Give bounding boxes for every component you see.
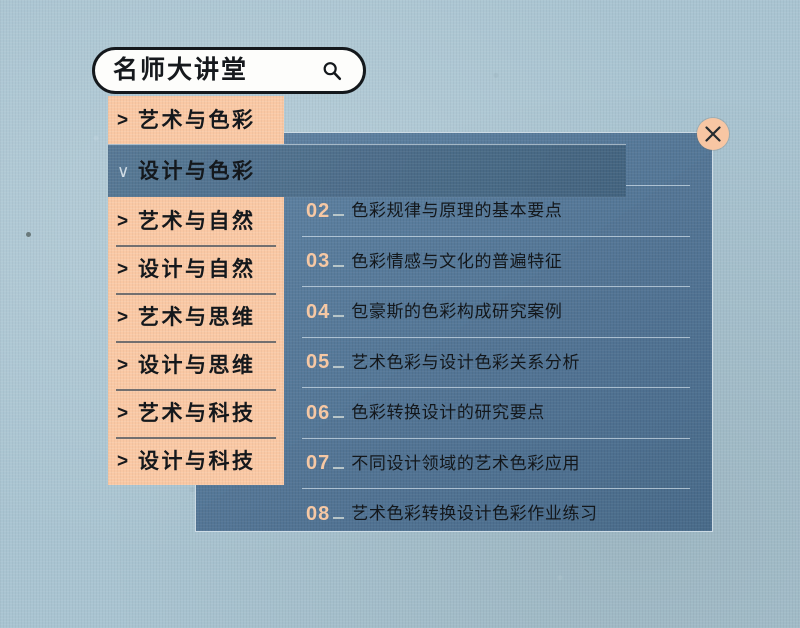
sidebar-item-label: 设计与思维 <box>138 355 256 376</box>
lesson-number: 06 <box>306 403 330 423</box>
chevron-right-icon: > <box>117 111 130 130</box>
lesson-row[interactable]: 08艺术色彩转换设计色彩作业练习 <box>302 489 690 539</box>
sidebar-item-label: 艺术与科技 <box>138 403 256 424</box>
lesson-number: 08 <box>306 504 330 524</box>
lesson-number: 07 <box>306 453 330 473</box>
sidebar-item-7[interactable]: >艺术与科技 <box>108 389 284 437</box>
lesson-dash <box>333 416 344 418</box>
lesson-title: 包豪斯的色彩构成研究案例 <box>351 303 562 320</box>
lesson-title: 色彩规律与原理的基本要点 <box>351 202 562 219</box>
lesson-dash <box>333 467 344 469</box>
close-icon <box>703 124 723 144</box>
sidebar-item-label: 设计与自然 <box>138 259 256 280</box>
category-sidebar: >艺术与色彩∨设计与色彩>艺术与自然>设计与自然>艺术与思维>设计与思维>艺术与… <box>108 96 284 485</box>
paper-speck <box>26 232 31 237</box>
lesson-row[interactable]: 04包豪斯的色彩构成研究案例 <box>302 287 690 338</box>
sidebar-item-label: 艺术与色彩 <box>138 110 256 131</box>
chevron-right-icon: > <box>117 260 130 279</box>
chevron-right-icon: > <box>117 308 130 327</box>
sidebar-item-label: 设计与科技 <box>138 451 256 472</box>
lesson-title: 色彩情感与文化的普遍特征 <box>351 253 562 270</box>
lesson-title: 不同设计领域的艺术色彩应用 <box>351 455 580 472</box>
sidebar-item-3[interactable]: >艺术与自然 <box>108 197 284 245</box>
sidebar-item-4[interactable]: >设计与自然 <box>108 245 284 293</box>
chevron-right-icon: > <box>117 212 130 231</box>
sidebar-separator <box>116 437 276 439</box>
lesson-number: 03 <box>306 251 330 271</box>
sidebar-item-1[interactable]: >艺术与色彩 <box>108 96 284 144</box>
sidebar-item-label: 艺术与思维 <box>138 307 256 328</box>
search-input[interactable]: 名师大讲堂 <box>113 58 248 83</box>
chevron-right-icon: > <box>117 356 130 375</box>
search-icon[interactable] <box>321 60 343 82</box>
lesson-dash <box>333 366 344 368</box>
lesson-dash <box>333 315 344 317</box>
lesson-number: 05 <box>306 352 330 372</box>
sidebar-item-label: 设计与色彩 <box>138 161 256 182</box>
lesson-row[interactable]: 03色彩情感与文化的普遍特征 <box>302 237 690 288</box>
sidebar-item-6[interactable]: >设计与思维 <box>108 341 284 389</box>
sidebar-separator <box>116 293 276 295</box>
lesson-title: 色彩转换设计的研究要点 <box>351 404 545 421</box>
lesson-dash <box>333 265 344 267</box>
lesson-row[interactable]: 05艺术色彩与设计色彩关系分析 <box>302 338 690 389</box>
lesson-row[interactable]: 06色彩转换设计的研究要点 <box>302 388 690 439</box>
sidebar-item-5[interactable]: >艺术与思维 <box>108 293 284 341</box>
chevron-right-icon: > <box>117 404 130 423</box>
lesson-number: 02 <box>306 201 330 221</box>
page-background: 01“设计与色彩”课程综述02色彩规律与原理的基本要点03色彩情感与文化的普遍特… <box>0 0 800 628</box>
sidebar-item-label: 艺术与自然 <box>138 211 256 232</box>
sidebar-separator <box>116 245 276 247</box>
sidebar-item-8[interactable]: >设计与科技 <box>108 437 284 485</box>
sidebar-separator <box>116 389 276 391</box>
lesson-number: 04 <box>306 302 330 322</box>
lesson-dash <box>333 517 344 519</box>
lesson-dash <box>333 214 344 216</box>
close-button[interactable] <box>697 118 729 150</box>
search-box[interactable]: 名师大讲堂 <box>92 47 366 94</box>
lesson-title: 艺术色彩与设计色彩关系分析 <box>351 354 580 371</box>
chevron-right-icon: > <box>117 452 130 471</box>
lesson-row[interactable]: 07不同设计领域的艺术色彩应用 <box>302 439 690 490</box>
sidebar-separator <box>116 341 276 343</box>
sidebar-item-2[interactable]: ∨设计与色彩 <box>108 144 626 197</box>
lesson-title: 艺术色彩转换设计色彩作业练习 <box>351 505 597 522</box>
chevron-down-icon: ∨ <box>117 163 130 180</box>
